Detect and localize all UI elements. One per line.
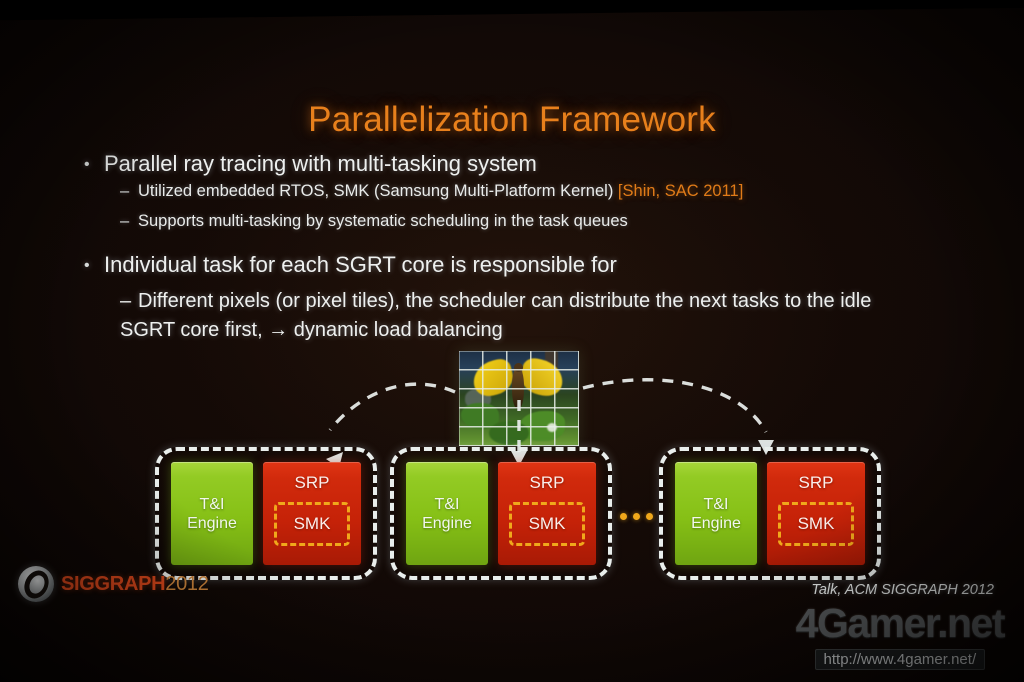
arrow-path-right [583, 380, 766, 432]
srp-label: SRP [498, 473, 596, 493]
dash-marker-icon: – [120, 212, 138, 231]
sub-bullet-text-1-2: Supports multi-tasking by systematic sch… [138, 212, 628, 230]
sub-bullet-2-1: –Different pixels (or pixel tiles), the … [120, 287, 920, 345]
bullet-item-2: •Individual task for each SGRT core is r… [84, 252, 617, 278]
tiled-render-preview-image [459, 351, 579, 446]
slide-photo: Parallelization Framework •Parallel ray … [0, 0, 1024, 682]
ti-engine-label-line1: T&I [435, 496, 460, 513]
watermark-url: http://www.4gamer.net/ [815, 649, 986, 670]
smk-label: SMK [529, 514, 566, 534]
smk-label: SMK [294, 514, 331, 534]
ti-engine-block: T&I Engine [675, 462, 757, 565]
top-dark-band [0, 0, 1024, 21]
group-ellipsis-icon [620, 513, 653, 520]
watermark: 4Gamer.net http://www.4gamer.net/ [796, 600, 1004, 670]
siggraph-orb-icon [18, 566, 54, 602]
dash-marker-icon: – [120, 287, 138, 316]
sgrt-core-group-1: T&I Engine SRP SMK [155, 447, 377, 580]
watermark-site: 4Gamer.net [796, 600, 1004, 647]
smk-label: SMK [798, 514, 835, 534]
siggraph-logo-name: SIGGRAPH [61, 573, 165, 595]
page-title: Parallelization Framework [0, 100, 1024, 140]
bullet-text-2: Individual task for each SGRT core is re… [104, 252, 617, 277]
bullet-marker-icon: • [84, 257, 104, 275]
sub-bullet-1-1: –Utilized embedded RTOS, SMK (Samsung Mu… [120, 182, 743, 201]
srp-block: SRP SMK [263, 462, 361, 565]
talk-credit: Talk, ACM SIGGRAPH 2012 [811, 582, 994, 598]
sub-bullet-text-1-1: Utilized embedded RTOS, SMK (Samsung Mul… [138, 182, 613, 200]
siggraph-logo: SIGGRAPH2012 [18, 566, 209, 602]
bullet-text-1: Parallel ray tracing with multi-tasking … [104, 151, 537, 176]
srp-label: SRP [263, 473, 361, 493]
srp-block: SRP SMK [767, 462, 865, 565]
dash-marker-icon: – [120, 182, 138, 201]
siggraph-logo-year: 2012 [165, 573, 208, 595]
arrow-path-left [330, 384, 455, 430]
ti-engine-label-line2: Engine [422, 515, 472, 532]
smk-dashed-box: SMK [509, 502, 585, 546]
ti-engine-block: T&I Engine [171, 462, 253, 565]
pixel-tile-grid-overlay [459, 351, 579, 446]
srp-label: SRP [767, 473, 865, 493]
ti-engine-label-line2: Engine [187, 515, 237, 532]
sgrt-core-group-3: T&I Engine SRP SMK [659, 447, 881, 580]
ti-engine-label-line1: T&I [200, 496, 225, 513]
ti-engine-label-line2: Engine [691, 515, 741, 532]
ti-engine-block: T&I Engine [406, 462, 488, 565]
smk-dashed-box: SMK [778, 502, 854, 546]
smk-dashed-box: SMK [274, 502, 350, 546]
bullet-item-1: •Parallel ray tracing with multi-tasking… [84, 151, 537, 177]
sub-bullet-1-2: –Supports multi-tasking by systematic sc… [120, 212, 628, 231]
citation-shin-sac-2011: [Shin, SAC 2011] [618, 182, 743, 200]
bullet-marker-icon: • [84, 156, 104, 174]
sgrt-core-group-2: T&I Engine SRP SMK [390, 447, 612, 580]
ti-engine-label-line1: T&I [704, 496, 729, 513]
sub-bullet-text-2-1: Different pixels (or pixel tiles), the s… [120, 290, 871, 341]
srp-block: SRP SMK [498, 462, 596, 565]
